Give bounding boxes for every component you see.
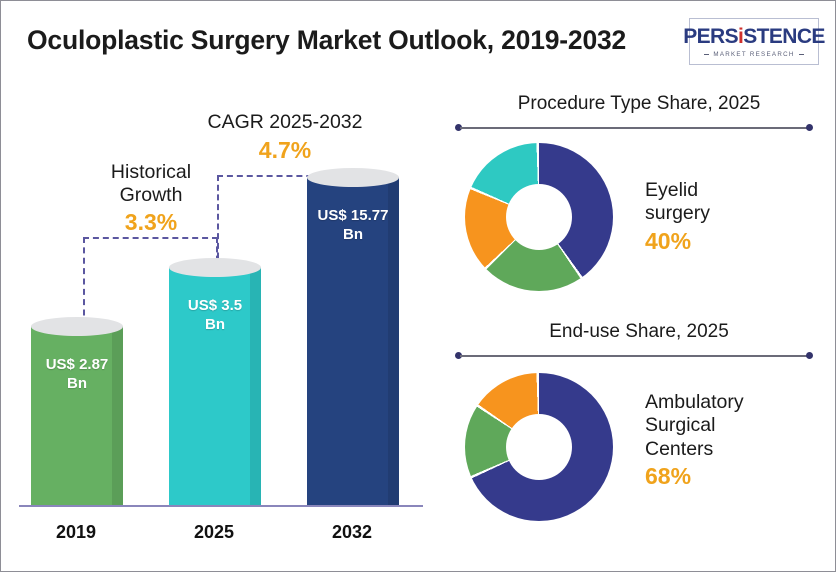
bar-2019-body	[31, 326, 123, 505]
procedure-type-section-title: Procedure Type Share, 2025	[441, 93, 836, 115]
end-use-donut[interactable]	[465, 373, 613, 521]
logo-rule-right-icon	[799, 54, 804, 55]
end-use-donut-hole	[506, 414, 572, 480]
logo-tagline-row: MARKET RESEARCH	[704, 51, 803, 58]
infographic-root: Oculoplastic Surgery Market Outlook, 201…	[0, 0, 836, 572]
divider-line	[460, 127, 808, 129]
bar-2025[interactable]: US$ 3.5Bn	[169, 258, 261, 505]
end-use-label-line1: Ambulatory	[645, 391, 744, 414]
end-use-value: 68%	[645, 463, 744, 490]
bar-2025-category-label: 2025	[153, 522, 275, 543]
procedure-type-donut-hole	[506, 184, 572, 250]
procedure-type-label-line1: Eyelid	[645, 179, 710, 202]
end-use-label-line3: Centers	[645, 438, 744, 461]
donut-charts-panel: Procedure Type Share, 2025 Eyelid surger…	[441, 85, 836, 572]
logo-wordmark: PERSiSTENCE	[683, 26, 825, 47]
bar-chart-panel: Historical Growth 3.3% CAGR 2025-2032 4.…	[1, 85, 441, 572]
bar-2025-top-cap	[169, 258, 261, 277]
procedure-type-divider	[455, 123, 813, 132]
procedure-type-donut[interactable]	[465, 143, 613, 291]
header: Oculoplastic Surgery Market Outlook, 201…	[1, 1, 836, 85]
bar-2032-value-label: US$ 15.77Bn	[307, 206, 399, 244]
company-logo: PERSiSTENCE MARKET RESEARCH	[689, 18, 819, 65]
bar-2032[interactable]: US$ 15.77Bn	[307, 168, 399, 505]
bar-2025-value-label: US$ 3.5Bn	[169, 296, 261, 334]
end-use-donut-wrap	[465, 373, 613, 521]
procedure-type-value: 40%	[645, 228, 710, 255]
procedure-type-donut-wrap	[465, 143, 613, 291]
procedure-type-label-line2: surgery	[645, 202, 710, 225]
bar-2032-top-cap	[307, 168, 399, 187]
end-use-callout: Ambulatory Surgical Centers 68%	[645, 391, 744, 490]
bar-2019-value-label: US$ 2.87Bn	[31, 355, 123, 393]
page-title: Oculoplastic Surgery Market Outlook, 201…	[27, 25, 626, 56]
bar-group-2025: US$ 3.5Bn 2025	[153, 85, 275, 572]
divider-line	[460, 355, 808, 357]
bar-2019[interactable]: US$ 2.87Bn	[31, 317, 123, 505]
logo-tagline: MARKET RESEARCH	[713, 51, 794, 58]
bar-2019-shading	[112, 326, 123, 505]
bar-2019-category-label: 2019	[15, 522, 137, 543]
bar-2032-category-label: 2032	[291, 522, 413, 543]
logo-word-before: PERS	[683, 25, 738, 48]
divider-dot-right-icon	[806, 124, 813, 131]
bar-group-2032: US$ 15.77Bn 2032	[291, 85, 413, 572]
divider-dot-right-icon	[806, 352, 813, 359]
end-use-divider	[455, 351, 813, 360]
bar-2019-top-cap	[31, 317, 123, 336]
bar-group-2019: US$ 2.87Bn 2019	[15, 85, 137, 572]
end-use-label-line2: Surgical	[645, 414, 744, 437]
end-use-section-title: End-use Share, 2025	[441, 321, 836, 343]
logo-word-after: STENCE	[743, 25, 825, 48]
logo-rule-left-icon	[704, 54, 709, 55]
procedure-type-callout: Eyelid surgery 40%	[645, 179, 710, 255]
